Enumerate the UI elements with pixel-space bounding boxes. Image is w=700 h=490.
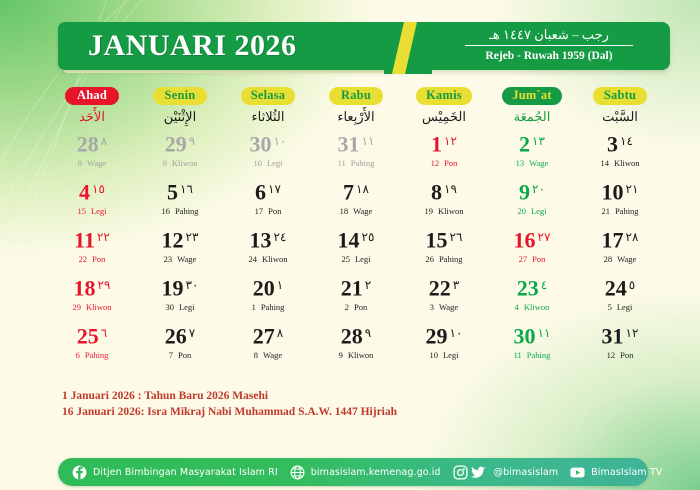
- hijri-day-number: 20: [517, 206, 526, 216]
- hijri-day-number: 11: [514, 350, 522, 360]
- weekday-header-jumat: Jum`atالجُمعَة: [488, 84, 576, 127]
- hijri-arabic-numeral: ١٠: [274, 134, 287, 148]
- hijri-arabic-numeral: ٢٩: [98, 278, 111, 292]
- pasaran-label: Pon: [532, 254, 545, 264]
- day-number-group: 30١١: [514, 320, 551, 352]
- note-line: 16 Januari 2026: Isra Mikraj Nabi Muhamm…: [62, 404, 582, 420]
- hijri-day-number: 30: [165, 302, 174, 312]
- hijri-day-number: 16: [161, 206, 170, 216]
- day-subline: 20Legi: [488, 206, 576, 217]
- day-subline: 8Wage: [48, 158, 136, 169]
- day-cell[interactable]: 29١٠10Legi: [400, 320, 488, 367]
- hijri-banner: رجب – شعبان ١٤٤٧ هـ Rejeb - Ruwah 1959 (…: [428, 22, 670, 70]
- weekday-header-kamis: Kamisالخَمِيْس: [400, 84, 488, 127]
- hijri-arabic-numeral: ١٥: [92, 182, 105, 196]
- gregorian-day-number: 2: [519, 131, 530, 156]
- day-number-group: 2١٣: [519, 128, 545, 160]
- footer-youtube[interactable]: BimasIslam TV: [570, 465, 662, 480]
- day-number-group: 28٩: [341, 320, 371, 352]
- hijri-arabic-numeral: ٢٧: [538, 230, 551, 244]
- day-subline: 3Wage: [400, 302, 488, 313]
- day-subline: 16Pahing: [136, 206, 224, 217]
- day-subline: 18Wage: [312, 206, 400, 217]
- day-number-group: 29١٠: [426, 320, 463, 352]
- day-subline: 9Kliwon: [312, 350, 400, 361]
- gregorian-day-number: 28: [341, 323, 363, 348]
- gregorian-day-number: 3: [607, 131, 618, 156]
- day-subline: 1Pahing: [224, 302, 312, 313]
- footer-website-label: bimasislam.kemenag.go.id: [311, 467, 441, 478]
- pasaran-label: Kliwon: [438, 206, 464, 216]
- hijri-arabic-numeral: ٧: [189, 326, 195, 340]
- hijri-arabic-numeral: ٨: [277, 326, 283, 340]
- gregorian-day-number: 6: [255, 179, 266, 204]
- hijri-day-number: 23: [164, 254, 173, 264]
- week-row: 18٢٩29Kliwon19٣٠30Legi20١1Pahing21٢2Pon2…: [48, 272, 664, 319]
- hijri-arabic-numeral: ١٢: [444, 134, 457, 148]
- hijri-day-number: 17: [255, 206, 264, 216]
- gregorian-day-number: 7: [343, 179, 354, 204]
- social-icon-pair: [453, 465, 489, 480]
- hijri-day-number: 4: [515, 302, 519, 312]
- day-number-group: 31١١: [338, 128, 375, 160]
- gregorian-day-number: 26: [165, 323, 187, 348]
- day-number-group: 5١٦: [167, 176, 193, 208]
- gregorian-day-number: 19: [162, 275, 184, 300]
- calendar-grid: AhadالأَحَدSeninالإِثْنَيْنSelasaالثُلاث…: [48, 84, 664, 367]
- day-number-group: 25٦: [77, 320, 107, 352]
- day-cell[interactable]: 16٢٧27Pon: [488, 224, 576, 271]
- gregorian-day-number: 9: [519, 179, 530, 204]
- pasaran-label: Kliwon: [172, 158, 198, 168]
- hijri-arabic-numeral: ٨: [101, 134, 107, 148]
- gregorian-day-number: 15: [426, 227, 448, 252]
- day-number-group: 4١٥: [79, 176, 105, 208]
- hijri-arabic-numeral: ١١: [362, 134, 375, 148]
- day-cell[interactable]: 30١١11Pahing: [488, 320, 576, 367]
- hijri-day-number: 28: [604, 254, 613, 264]
- pasaran-label: Pon: [268, 206, 281, 216]
- pasaran-label: Legi: [267, 158, 283, 168]
- hijri-day-number: 12: [431, 158, 440, 168]
- footer-bar: Ditjen Bimbingan Masyarakat Islam RI bim…: [58, 458, 648, 486]
- day-number-group: 21٢: [341, 272, 371, 304]
- pasaran-label: Legi: [531, 206, 547, 216]
- hijri-arabic-numeral: ١٩: [444, 182, 457, 196]
- pasaran-label: Legi: [91, 206, 107, 216]
- gregorian-day-number: 8: [431, 179, 442, 204]
- weekday-header-selasa: Selasaالثُلاثاء: [224, 84, 312, 127]
- day-number-group: 19٣٠: [162, 272, 199, 304]
- hijri-arabic-numeral: ٢٣: [186, 230, 199, 244]
- gregorian-day-number: 30: [514, 323, 536, 348]
- day-number-group: 15٢٦: [426, 224, 463, 256]
- gregorian-day-number: 11: [74, 227, 95, 252]
- day-number-group: 3١٤: [607, 128, 633, 160]
- pasaran-label: Kliwon: [524, 302, 550, 312]
- hijri-arabic-numeral: ١٦: [180, 182, 193, 196]
- hijri-arabic-numeral: ٩: [189, 134, 195, 148]
- hijri-arabic-numeral: ١٤: [620, 134, 633, 148]
- hijri-arabic-numeral: ١٣: [532, 134, 545, 148]
- day-subline: 21Pahing: [576, 206, 664, 217]
- day-number-group: 31١٢: [602, 320, 639, 352]
- hijri-arabic-numeral: ٤: [541, 278, 547, 292]
- hijri-arabic-label: رجب – شعبان ١٤٤٧ هـ: [428, 22, 670, 43]
- gregorian-day-number: 28: [77, 131, 99, 156]
- gregorian-day-number: 31: [602, 323, 624, 348]
- day-subline: 2Pon: [312, 302, 400, 313]
- weekday-arabic-label: الإِثْنَيْن: [136, 107, 224, 127]
- hijri-arabic-numeral: ٢٨: [626, 230, 639, 244]
- day-number-group: 1١٢: [431, 128, 457, 160]
- pasaran-label: Pahing: [615, 206, 639, 216]
- pasaran-label: Wage: [617, 254, 636, 264]
- day-cell[interactable]: 21٢2Pon: [312, 272, 400, 319]
- day-cell[interactable]: 14٢٥25Legi: [312, 224, 400, 271]
- day-number-group: 22٣: [429, 272, 459, 304]
- day-subline: 6Pahing: [48, 350, 136, 361]
- hijri-arabic-numeral: ١٧: [268, 182, 281, 196]
- gregorian-day-number: 16: [514, 227, 536, 252]
- pasaran-label: Legi: [179, 302, 195, 312]
- note-line: 1 Januari 2026 : Tahun Baru 2026 Masehi: [62, 388, 582, 404]
- weekday-header-ahad: Ahadالأَحَد: [48, 84, 136, 127]
- day-number-group: 10٢١: [602, 176, 639, 208]
- gregorian-day-number: 10: [602, 179, 624, 204]
- hijri-day-number: 10: [253, 158, 262, 168]
- page-title: JANUARI 2026: [88, 26, 297, 66]
- hijri-arabic-numeral: ٦: [101, 326, 107, 340]
- day-subline: 24Kliwon: [224, 254, 312, 265]
- day-cell[interactable]: 25٦6Pahing: [48, 320, 136, 367]
- hijri-arabic-numeral: ٩: [365, 326, 371, 340]
- day-cell[interactable]: 30١٠10Legi: [224, 128, 312, 175]
- weekday-arabic-label: الجُمعَة: [488, 107, 576, 127]
- hijri-day-number: 9: [339, 350, 343, 360]
- hijri-arabic-numeral: ٣٠: [186, 278, 199, 292]
- week-row: 4١٥15Legi5١٦16Pahing6١٧17Pon7١٨18Wage8١٩…: [48, 176, 664, 223]
- footer-social-handle[interactable]: @bimasislam: [453, 465, 559, 480]
- weekday-arabic-label: الثُلاثاء: [224, 107, 312, 127]
- hijri-arabic-numeral: ٣: [453, 278, 459, 292]
- hijri-arabic-numeral: ١١: [538, 326, 551, 340]
- pasaran-label: Wage: [263, 350, 282, 360]
- weekday-arabic-label: الأَحَد: [48, 107, 136, 127]
- day-subline: 9Kliwon: [136, 158, 224, 169]
- day-subline: 29Kliwon: [48, 302, 136, 313]
- youtube-icon: [570, 465, 585, 480]
- hijri-arabic-numeral: ١٠: [450, 326, 463, 340]
- pasaran-label: Wage: [439, 302, 458, 312]
- hijri-day-number: 9: [163, 158, 167, 168]
- day-subline: 10Legi: [400, 350, 488, 361]
- day-number-group: 24٥: [605, 272, 635, 304]
- hijri-arabic-numeral: ٢٠: [532, 182, 545, 196]
- day-subline: 8Wage: [224, 350, 312, 361]
- day-subline: 22Pon: [48, 254, 136, 265]
- day-number-group: 28٨: [77, 128, 107, 160]
- weekday-pill: Senin: [153, 87, 207, 105]
- hijri-day-number: 12: [607, 350, 616, 360]
- footer-facebook-label: Ditjen Bimbingan Masyarakat Islam RI: [93, 467, 278, 478]
- pasaran-label: Legi: [355, 254, 371, 264]
- calendar-header: JANUARI 2026 رجب – شعبان ١٤٤٧ هـ Rejeb -…: [58, 22, 670, 74]
- day-cell[interactable]: 15٢٦26Pahing: [400, 224, 488, 271]
- day-number-group: 8١٩: [431, 176, 457, 208]
- day-number-group: 6١٧: [255, 176, 281, 208]
- hijri-arabic-numeral: ١٨: [356, 182, 369, 196]
- pasaran-label: Kliwon: [614, 158, 640, 168]
- gregorian-day-number: 29: [426, 323, 448, 348]
- weekday-arabic-label: السَّبْت: [576, 107, 664, 127]
- pasaran-label: Wage: [529, 158, 548, 168]
- weekday-header-row: AhadالأَحَدSeninالإِثْنَيْنSelasaالثُلاث…: [48, 84, 664, 127]
- hijri-day-number: 14: [601, 158, 610, 168]
- pasaran-label: Kliwon: [86, 302, 112, 312]
- calendar-page: JANUARI 2026 رجب – شعبان ١٤٤٧ هـ Rejeb -…: [0, 0, 700, 490]
- day-cell[interactable]: 26٧7Pon: [136, 320, 224, 367]
- day-cell[interactable]: 20١1Pahing: [224, 272, 312, 319]
- day-cell[interactable]: 18٢٩29Kliwon: [48, 272, 136, 319]
- hijri-day-number: 18: [340, 206, 349, 216]
- hijri-day-number: 13: [516, 158, 525, 168]
- day-number-group: 27٨: [253, 320, 283, 352]
- hijri-day-number: 5: [608, 302, 612, 312]
- day-cell[interactable]: 2١٣13Wage: [488, 128, 576, 175]
- week-row: 11٢٢22Pon12٢٣23Wage13٢٤24Kliwon14٢٥25Leg…: [48, 224, 664, 271]
- facebook-icon: [72, 465, 87, 480]
- day-cell[interactable]: 27٨8Wage: [224, 320, 312, 367]
- gregorian-day-number: 13: [250, 227, 272, 252]
- hijri-arabic-numeral: ٢٤: [274, 230, 287, 244]
- day-cell[interactable]: 4١٥15Legi: [48, 176, 136, 223]
- day-subline: 17Pon: [224, 206, 312, 217]
- week-row: 25٦6Pahing26٧7Pon27٨8Wage28٩9Kliwon29١٠1…: [48, 320, 664, 367]
- hijri-day-number: 8: [78, 158, 82, 168]
- day-number-group: 11٢٢: [74, 224, 110, 256]
- weekday-header-sabtu: Sabtuالسَّبْت: [576, 84, 664, 127]
- pasaran-label: Legi: [443, 350, 459, 360]
- day-cell[interactable]: 17٢٨28Wage: [576, 224, 664, 271]
- day-subline: 11Pahing: [488, 350, 576, 361]
- day-cell[interactable]: 28٩9Kliwon: [312, 320, 400, 367]
- day-subline: 11Pahing: [312, 158, 400, 169]
- gregorian-day-number: 31: [338, 131, 360, 156]
- hijri-day-number: 1: [252, 302, 256, 312]
- gregorian-day-number: 25: [77, 323, 99, 348]
- month-banner: JANUARI 2026: [58, 22, 406, 70]
- holiday-notes: 1 Januari 2026 : Tahun Baru 2026 Masehi …: [62, 388, 582, 420]
- pasaran-label: Wage: [353, 206, 372, 216]
- gregorian-day-number: 1: [431, 131, 442, 156]
- day-cell[interactable]: 8١٩19Kliwon: [400, 176, 488, 223]
- weekday-pill: Selasa: [241, 87, 296, 105]
- day-number-group: 26٧: [165, 320, 195, 352]
- weekday-pill: Rabu: [329, 87, 383, 105]
- day-number-group: 29٩: [165, 128, 195, 160]
- day-subline: 26Pahing: [400, 254, 488, 265]
- day-cell[interactable]: 12٢٣23Wage: [136, 224, 224, 271]
- pasaran-label: Wage: [177, 254, 196, 264]
- day-cell[interactable]: 10٢١21Pahing: [576, 176, 664, 223]
- gregorian-day-number: 20: [253, 275, 275, 300]
- hijri-day-number: 2: [345, 302, 349, 312]
- day-cell[interactable]: 5١٦16Pahing: [136, 176, 224, 223]
- hijri-day-number: 11: [338, 158, 346, 168]
- day-number-group: 13٢٤: [250, 224, 287, 256]
- pasaran-label: Pahing: [351, 158, 375, 168]
- gregorian-day-number: 27: [253, 323, 275, 348]
- day-number-group: 30١٠: [250, 128, 287, 160]
- gregorian-day-number: 22: [429, 275, 451, 300]
- day-cell[interactable]: 9٢٠20Legi: [488, 176, 576, 223]
- hijri-day-number: 6: [76, 350, 80, 360]
- day-subline: 4Kliwon: [488, 302, 576, 313]
- hijri-day-number: 3: [430, 302, 434, 312]
- hijri-day-number: 29: [73, 302, 82, 312]
- day-number-group: 17٢٨: [602, 224, 639, 256]
- hijri-arabic-numeral: ٢٥: [362, 230, 375, 244]
- pasaran-label: Pahing: [261, 302, 285, 312]
- instagram-icon: [453, 465, 468, 480]
- hijri-day-number: 7: [169, 350, 173, 360]
- hijri-day-number: 21: [601, 206, 610, 216]
- day-number-group: 7١٨: [343, 176, 369, 208]
- pasaran-label: Kliwon: [262, 254, 288, 264]
- day-cell[interactable]: 29٩9Kliwon: [136, 128, 224, 175]
- footer-facebook[interactable]: Ditjen Bimbingan Masyarakat Islam RI: [72, 465, 278, 480]
- pasaran-label: Pahing: [527, 350, 551, 360]
- weekday-pill: Ahad: [65, 87, 119, 105]
- pasaran-label: Wage: [87, 158, 106, 168]
- gregorian-day-number: 12: [162, 227, 184, 252]
- weekday-pill: Jum`at: [502, 87, 561, 105]
- day-number-group: 23٤: [517, 272, 547, 304]
- weekday-header-rabu: Rabuالأَرْبِعاء: [312, 84, 400, 127]
- weekday-pill: Kamis: [416, 87, 472, 105]
- day-cell[interactable]: 3١٤14Kliwon: [576, 128, 664, 175]
- gregorian-day-number: 24: [605, 275, 627, 300]
- day-cell[interactable]: 13٢٤24Kliwon: [224, 224, 312, 271]
- pasaran-label: Pon: [92, 254, 105, 264]
- day-cell[interactable]: 31١٢12Pon: [576, 320, 664, 367]
- day-subline: 5Legi: [576, 302, 664, 313]
- pasaran-label: Pon: [354, 302, 367, 312]
- gregorian-day-number: 14: [338, 227, 360, 252]
- day-subline: 13Wage: [488, 158, 576, 169]
- day-subline: 12Pon: [400, 158, 488, 169]
- day-cell[interactable]: 11٢٢22Pon: [48, 224, 136, 271]
- pasaran-label: Legi: [617, 302, 633, 312]
- hijri-day-number: 15: [77, 206, 86, 216]
- day-cell[interactable]: 23٤4Kliwon: [488, 272, 576, 319]
- footer-youtube-label: BimasIslam TV: [591, 467, 662, 478]
- hijri-arabic-numeral: ٢٢: [97, 230, 110, 244]
- weekday-pill: Sabtu: [593, 87, 647, 105]
- day-subline: 10Legi: [224, 158, 312, 169]
- hijri-latin-label: Rejeb - Ruwah 1959 (Dal): [428, 46, 670, 63]
- gregorian-day-number: 29: [165, 131, 187, 156]
- day-subline: 7Pon: [136, 350, 224, 361]
- pasaran-label: Pahing: [175, 206, 199, 216]
- hijri-arabic-numeral: ٢١: [626, 182, 639, 196]
- day-subline: 14Kliwon: [576, 158, 664, 169]
- gregorian-day-number: 4: [79, 179, 90, 204]
- hijri-arabic-numeral: ٢٦: [450, 230, 463, 244]
- day-cell[interactable]: 31١١11Pahing: [312, 128, 400, 175]
- hijri-day-number: 25: [341, 254, 350, 264]
- weekday-header-senin: Seninالإِثْنَيْن: [136, 84, 224, 127]
- day-cell[interactable]: 24٥5Legi: [576, 272, 664, 319]
- weekday-arabic-label: الأَرْبِعاء: [312, 107, 400, 127]
- gregorian-day-number: 30: [250, 131, 272, 156]
- pasaran-label: Pahing: [439, 254, 463, 264]
- hijri-arabic-numeral: ١: [277, 278, 283, 292]
- day-subline: 28Wage: [576, 254, 664, 265]
- gregorian-day-number: 5: [167, 179, 178, 204]
- day-cell[interactable]: 22٣3Wage: [400, 272, 488, 319]
- day-cell[interactable]: 28٨8Wage: [48, 128, 136, 175]
- day-cell[interactable]: 6١٧17Pon: [224, 176, 312, 223]
- day-subline: 15Legi: [48, 206, 136, 217]
- day-cell[interactable]: 19٣٠30Legi: [136, 272, 224, 319]
- day-number-group: 18٢٩: [74, 272, 111, 304]
- day-subline: 25Legi: [312, 254, 400, 265]
- hijri-day-number: 8: [254, 350, 258, 360]
- day-subline: 30Legi: [136, 302, 224, 313]
- hijri-arabic-numeral: ٥: [629, 278, 635, 292]
- hijri-day-number: 26: [425, 254, 434, 264]
- day-number-group: 20١: [253, 272, 283, 304]
- twitter-icon: [471, 465, 486, 480]
- day-subline: 27Pon: [488, 254, 576, 265]
- gregorian-day-number: 23: [517, 275, 539, 300]
- hijri-arabic-numeral: ١٢: [626, 326, 639, 340]
- day-number-group: 14٢٥: [338, 224, 375, 256]
- gregorian-day-number: 21: [341, 275, 363, 300]
- day-number-group: 12٢٣: [162, 224, 199, 256]
- pasaran-label: Pon: [444, 158, 457, 168]
- weekday-arabic-label: الخَمِيْس: [400, 107, 488, 127]
- week-row: 28٨8Wage29٩9Kliwon30١٠10Legi31١١11Pahing…: [48, 128, 664, 175]
- footer-website[interactable]: bimasislam.kemenag.go.id: [290, 465, 441, 480]
- pasaran-label: Kliwon: [348, 350, 374, 360]
- day-subline: 23Wage: [136, 254, 224, 265]
- day-cell[interactable]: 7١٨18Wage: [312, 176, 400, 223]
- pasaran-label: Pahing: [85, 350, 109, 360]
- hijri-day-number: 10: [429, 350, 438, 360]
- day-number-group: 9٢٠: [519, 176, 545, 208]
- day-number-group: 16٢٧: [514, 224, 551, 256]
- hijri-day-number: 19: [425, 206, 434, 216]
- day-cell[interactable]: 1١٢12Pon: [400, 128, 488, 175]
- globe-icon: [290, 465, 305, 480]
- day-subline: 12Pon: [576, 350, 664, 361]
- yellow-diagonal-accent: [384, 22, 432, 74]
- hijri-arabic-numeral: ٢: [365, 278, 371, 292]
- footer-handle-label: @bimasislam: [494, 467, 559, 478]
- pasaran-label: Pon: [620, 350, 633, 360]
- day-subline: 19Kliwon: [400, 206, 488, 217]
- hijri-day-number: 27: [519, 254, 528, 264]
- gregorian-day-number: 18: [74, 275, 96, 300]
- hijri-day-number: 22: [79, 254, 88, 264]
- calendar-weeks: 28٨8Wage29٩9Kliwon30١٠10Legi31١١11Pahing…: [48, 128, 664, 367]
- hijri-day-number: 24: [249, 254, 258, 264]
- pasaran-label: Pon: [178, 350, 191, 360]
- gregorian-day-number: 17: [602, 227, 624, 252]
